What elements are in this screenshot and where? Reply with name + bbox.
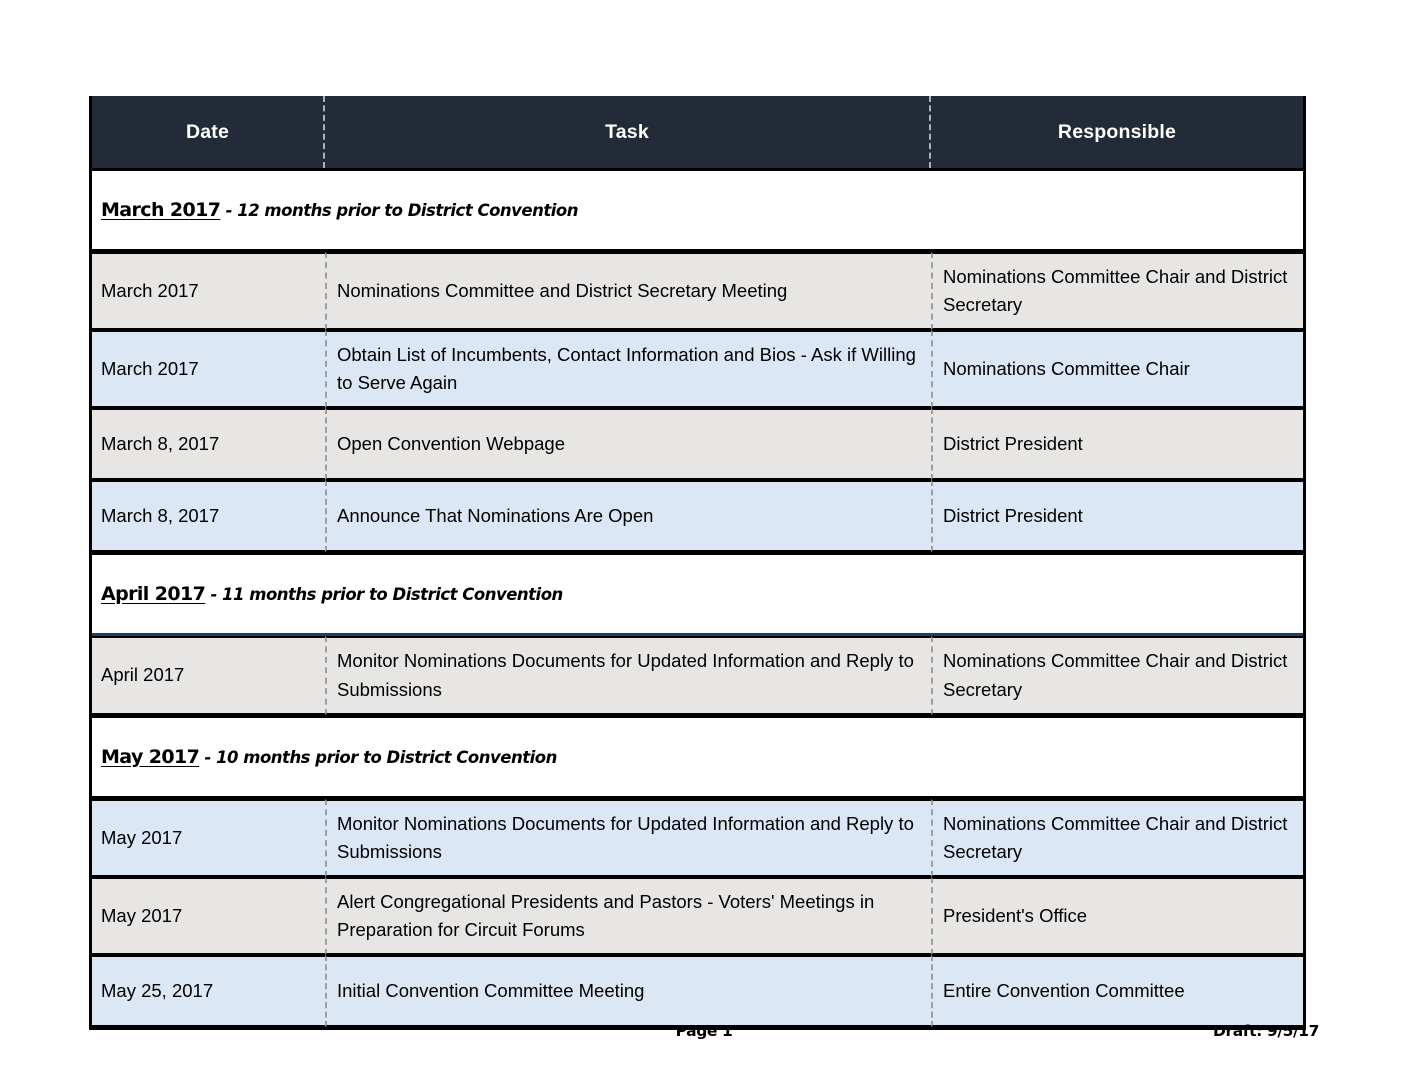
table-row: May 2017Monitor Nominations Documents fo… [92,799,1303,877]
table-header-row: Date Task Responsible [92,96,1303,168]
table-row: May 25, 2017Initial Convention Committee… [92,955,1303,1027]
table-row: May 2017Alert Congregational Presidents … [92,877,1303,955]
cell-responsible: Nominations Committee Chair [931,330,1303,408]
section-note-label: - 11 months prior to District Convention [205,585,563,604]
cell-task: Announce That Nominations Are Open [325,480,931,552]
column-header-responsible: Responsible [931,96,1303,168]
cell-responsible: District President [931,480,1303,552]
schedule-table-container: Date Task Responsible March 2017 - 12 mo… [89,96,1306,1030]
cell-responsible: Nominations Committee Chair and District… [931,252,1303,330]
section-header-cell: April 2017 - 11 months prior to District… [92,552,1303,636]
cell-date: May 2017 [92,877,325,955]
cell-task: Monitor Nominations Documents for Update… [325,636,931,714]
cell-responsible: District President [931,408,1303,480]
cell-responsible: Nominations Committee Chair and District… [931,799,1303,877]
section-month-label: March 2017 [101,199,220,221]
cell-date: March 2017 [92,252,325,330]
cell-task: Open Convention Webpage [325,408,931,480]
table-row: April 2017Monitor Nominations Documents … [92,636,1303,714]
footer-draft-date: Draft: 9/5/17 [1213,1022,1319,1040]
table-row: March 2017Nominations Committee and Dist… [92,252,1303,330]
cell-task: Monitor Nominations Documents for Update… [325,799,931,877]
section-month-label: April 2017 [101,583,205,605]
section-header-row: March 2017 - 12 months prior to District… [92,168,1303,252]
table-row: March 8, 2017Announce That Nominations A… [92,480,1303,552]
cell-task: Obtain List of Incumbents, Contact Infor… [325,330,931,408]
cell-date: March 8, 2017 [92,408,325,480]
cell-responsible: Nominations Committee Chair and District… [931,636,1303,714]
footer-page-number: Page 1 [89,1022,1319,1040]
table-row: March 2017Obtain List of Incumbents, Con… [92,330,1303,408]
column-header-task: Task [325,96,931,168]
section-header-cell: March 2017 - 12 months prior to District… [92,168,1303,252]
column-header-date: Date [92,96,325,168]
cell-task: Nominations Committee and District Secre… [325,252,931,330]
section-header-row: April 2017 - 11 months prior to District… [92,552,1303,636]
cell-responsible: President's Office [931,877,1303,955]
cell-task: Alert Congregational Presidents and Past… [325,877,931,955]
table-header: Date Task Responsible [92,96,1303,168]
section-month-label: May 2017 [101,746,199,768]
cell-date: March 2017 [92,330,325,408]
section-header-row: May 2017 - 10 months prior to District C… [92,715,1303,799]
schedule-table: Date Task Responsible March 2017 - 12 mo… [92,96,1303,1027]
section-note-label: - 10 months prior to District Convention [199,748,557,767]
cell-date: May 2017 [92,799,325,877]
table-row: March 8, 2017Open Convention WebpageDist… [92,408,1303,480]
cell-date: April 2017 [92,636,325,714]
page-footer: Page 1 Draft: 9/5/17 [89,1022,1319,1048]
table-body: March 2017 - 12 months prior to District… [92,168,1303,1027]
section-header-cell: May 2017 - 10 months prior to District C… [92,715,1303,799]
cell-responsible: Entire Convention Committee [931,955,1303,1027]
cell-task: Initial Convention Committee Meeting [325,955,931,1027]
section-note-label: - 12 months prior to District Convention [220,201,578,220]
cell-date: May 25, 2017 [92,955,325,1027]
cell-date: March 8, 2017 [92,480,325,552]
document-page: Date Task Responsible March 2017 - 12 mo… [0,0,1408,1088]
